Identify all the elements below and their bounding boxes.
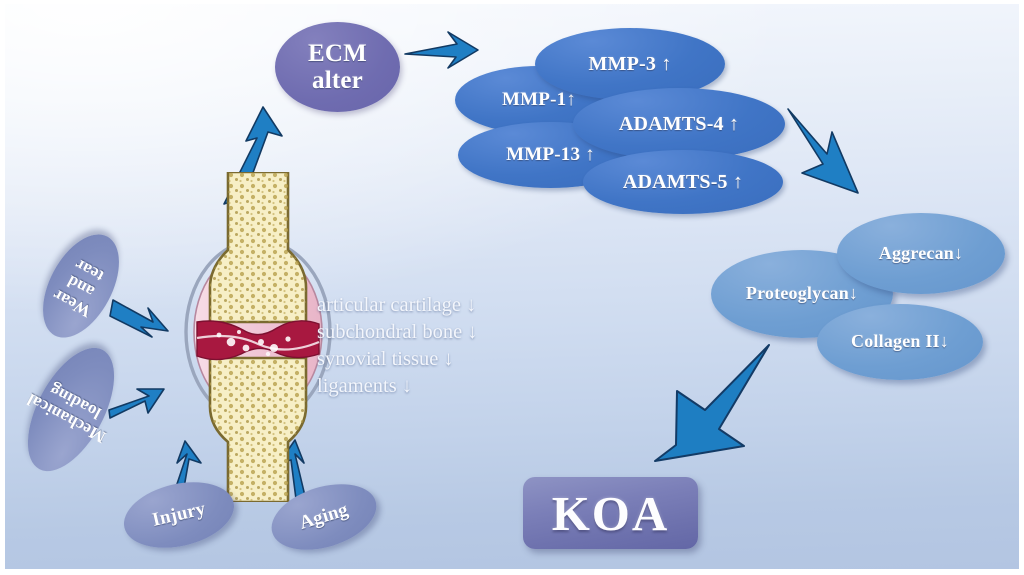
tissue-change-item: ligaments ↓ <box>317 373 562 400</box>
node-mmp3-label: MMP-3 ↑ <box>588 53 671 75</box>
node-collagen2-label: Collagen II↓ <box>851 332 949 352</box>
node-aging-label: Aging <box>297 500 351 534</box>
ecm-alter-node[interactable]: ECM alter <box>275 22 400 112</box>
node-aggrecan[interactable]: Aggrecan↓ <box>837 213 1005 294</box>
ecm-line2: alter <box>308 67 367 95</box>
tissue-change-item: articular cartilage ↓ <box>317 292 562 319</box>
node-injury-label: Injury <box>150 499 207 532</box>
arrow-matrix-to-koa <box>655 345 769 461</box>
node-mmp13-label: MMP-13 ↑ <box>506 145 595 166</box>
figure-container: ECM alter MMP-1↑ MMP-3 ↑ MMP-13 ↑ ADAMTS… <box>0 0 1024 575</box>
node-proteoglycan-label: Proteoglycan↓ <box>746 284 858 304</box>
tissue-change-item: subchondral bone ↓ <box>317 319 562 346</box>
node-aggrecan-label: Aggrecan↓ <box>879 244 963 264</box>
node-mechanical-loading-label: Mechanical loading <box>24 373 118 446</box>
femur-trabeculae <box>210 172 306 322</box>
arrow-ecm-to-enzymes <box>405 32 478 68</box>
tissue-changes-list: articular cartilage ↓ subchondral bone ↓… <box>317 292 562 400</box>
node-adamts4-label: ADAMTS-4 ↑ <box>619 113 739 135</box>
node-adamts5-label: ADAMTS-5 ↑ <box>623 171 743 193</box>
ecm-line1: ECM <box>308 40 367 68</box>
node-adamts5[interactable]: ADAMTS-5 ↑ <box>583 150 783 214</box>
node-collagen2[interactable]: Collagen II↓ <box>817 304 983 380</box>
koa-outcome-label: KOA <box>552 485 670 542</box>
diagram-canvas: ECM alter MMP-1↑ MMP-3 ↑ MMP-13 ↑ ADAMTS… <box>5 4 1019 569</box>
arrow-wear-to-joint <box>110 300 168 337</box>
koa-outcome-box[interactable]: KOA <box>523 477 698 549</box>
arrow-enzymes-to-matrix <box>788 109 858 193</box>
tissue-change-item: synovial tissue ↓ <box>317 346 562 373</box>
node-mmp1-label: MMP-1↑ <box>502 90 576 111</box>
tibia-trabeculae <box>210 358 306 502</box>
